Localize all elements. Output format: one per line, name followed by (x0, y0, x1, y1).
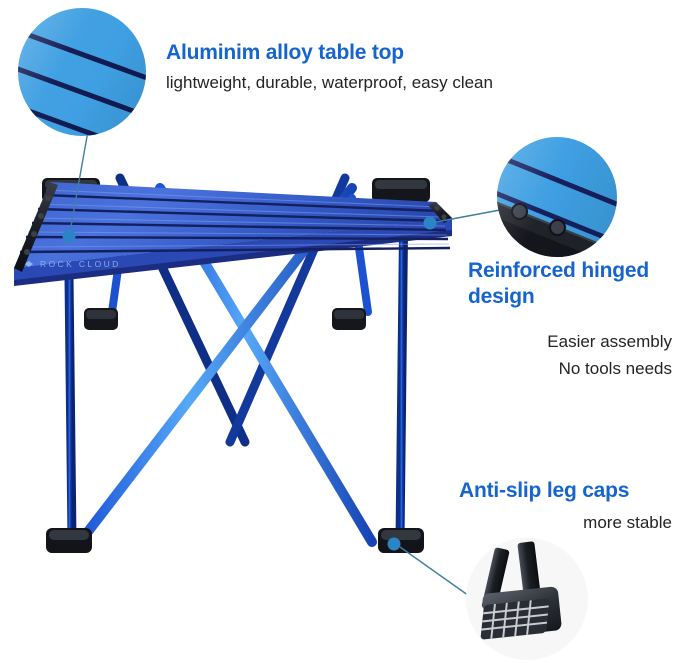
leg-cap-closeup-circle-icon (466, 538, 588, 660)
slat-closeup-circle-icon (18, 8, 146, 136)
table-vector: ROCK CLOUD (0, 160, 470, 570)
brand-logo-text: ROCK CLOUD (40, 259, 121, 269)
callout-heading-reinforced-hinge: Reinforced hinged design (468, 258, 678, 310)
hinge-closeup-circle-icon (497, 137, 617, 257)
callout-subtext-more-stable: more stable (459, 511, 672, 534)
folding-table-illustration: ROCK CLOUD (0, 160, 470, 570)
product-feature-infographic: ROCK CLOUD (0, 0, 679, 663)
callout-subtext-aluminium-top: lightweight, durable, waterproof, easy c… (166, 71, 493, 94)
callout-subtext-easier-assembly: Easier assembly (468, 330, 672, 353)
callout-heading-aluminium-top: Aluminim alloy table top (166, 40, 404, 66)
callout-subtext-no-tools-needs: No tools needs (468, 357, 672, 380)
callout-heading-anti-slip-leg-caps: Anti-slip leg caps (459, 478, 629, 504)
table-feet-rear (84, 308, 366, 330)
